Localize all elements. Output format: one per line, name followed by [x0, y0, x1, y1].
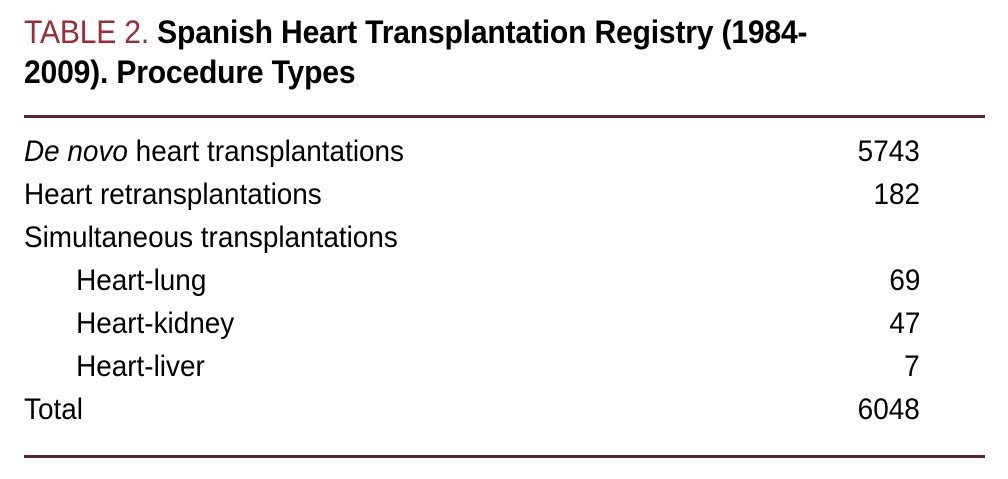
row-label-text: Total [24, 393, 83, 426]
row-label-text: Heart-kidney [76, 307, 234, 340]
row-label: Simultaneous transplantations [24, 220, 398, 256]
row-value: 7 [904, 349, 920, 385]
row-label-text: Simultaneous transplantations [24, 221, 398, 254]
table-top-rule [24, 115, 985, 118]
table-caption: TABLE 2. Spanish Heart Transplantation R… [24, 12, 870, 92]
row-value: 5743 [858, 134, 920, 170]
row-value: 182 [873, 177, 920, 213]
table-figure: TABLE 2. Spanish Heart Transplantation R… [0, 0, 1008, 479]
row-label: De novo heart transplantations [24, 134, 404, 170]
table-row: Heart retransplantations 182 [24, 177, 920, 220]
row-label-italic: De novo [24, 135, 128, 168]
row-label: Heart-liver [24, 349, 205, 385]
table-number-label: TABLE 2. [24, 14, 149, 50]
row-value: 69 [889, 263, 920, 299]
row-label-text: Heart-liver [76, 350, 205, 383]
table-row: Heart-liver 7 [24, 349, 920, 392]
row-label-text: heart transplantations [128, 135, 404, 168]
row-label: Heart retransplantations [24, 177, 322, 213]
table-row: De novo heart transplantations 5743 [24, 134, 920, 177]
table-body: De novo heart transplantations 5743 Hear… [24, 134, 920, 435]
table-bottom-rule [24, 455, 985, 458]
row-label-text: Heart-lung [76, 264, 206, 297]
row-value: 47 [889, 306, 920, 342]
row-value: 6048 [858, 392, 920, 428]
row-label: Heart-kidney [24, 306, 234, 342]
table-row: Heart-lung 69 [24, 263, 920, 306]
row-label: Heart-lung [24, 263, 206, 299]
row-label-text: Heart retransplantations [24, 178, 322, 211]
row-label: Total [24, 392, 83, 428]
table-row: Total 6048 [24, 392, 920, 435]
table-row: Heart-kidney 47 [24, 306, 920, 349]
table-row: Simultaneous transplantations [24, 220, 920, 263]
